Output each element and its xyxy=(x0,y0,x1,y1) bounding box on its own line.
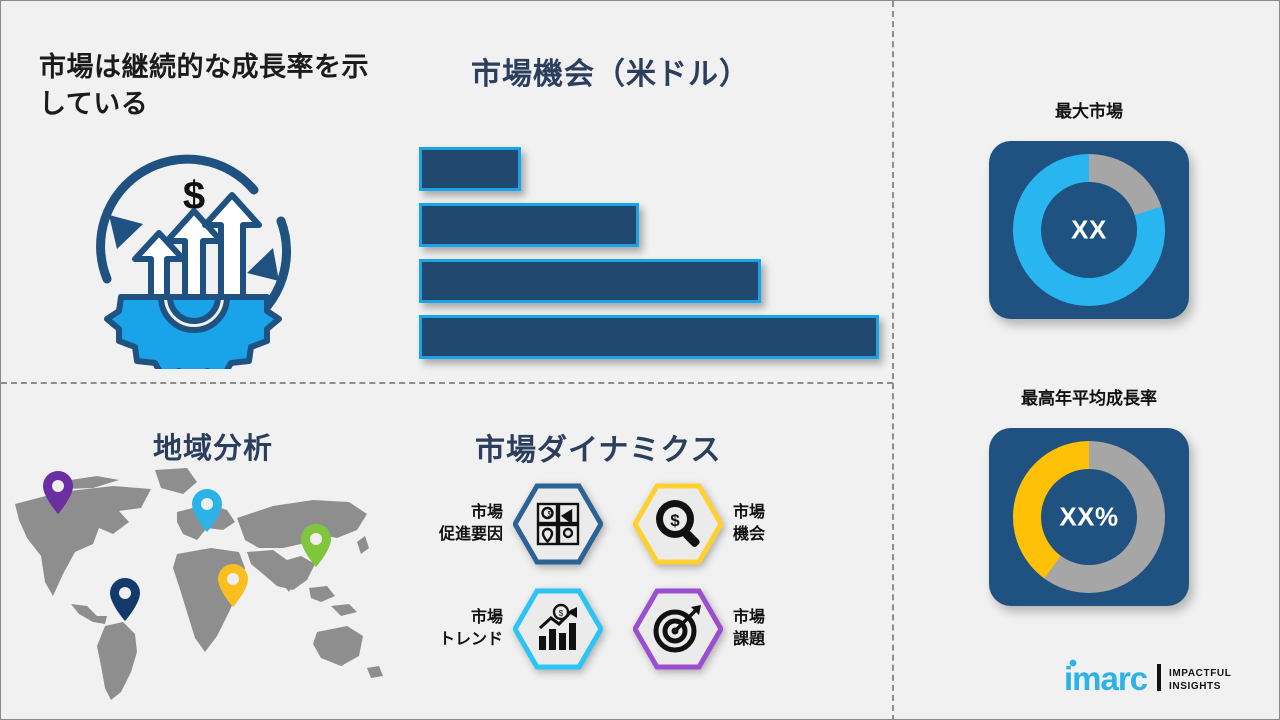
dynamics-item-opportunities[interactable]: $ 市場 機会 xyxy=(633,481,833,566)
puzzle-pieces-icon: $ xyxy=(513,483,603,565)
bar-3 xyxy=(419,259,761,303)
svg-text:$: $ xyxy=(670,511,680,530)
dynamics-item-trends[interactable]: 市場 トレンド $ xyxy=(403,586,603,671)
opportunity-bar-chart xyxy=(419,147,879,347)
horizontal-divider xyxy=(1,382,893,384)
slide-canvas: 市場は継続的な成長率を示している $ 市場機会（米ドル） 地域分析 xyxy=(0,0,1280,720)
dynamics-label-drivers: 市場 促進要因 xyxy=(439,502,503,545)
largest-market-title: 最大市場 xyxy=(959,97,1219,122)
dynamics-item-challenges[interactable]: 市場 課題 xyxy=(633,586,833,671)
highest-cagr-value: XX% xyxy=(989,502,1189,533)
logo-wordmark: imarc xyxy=(1064,660,1148,697)
highest-cagr-title: 最高年平均成長率 xyxy=(959,384,1219,409)
largest-market-value: XX xyxy=(989,215,1189,246)
bar-1 xyxy=(419,147,521,191)
vertical-divider xyxy=(892,1,894,720)
dynamics-heading: 市場ダイナミクス xyxy=(475,425,722,469)
logo-tagline-line2: INSIGHTS xyxy=(1169,681,1221,692)
target-arrow-icon xyxy=(633,588,723,670)
growth-gear-arrows-icon: $ xyxy=(69,129,319,369)
svg-text:$: $ xyxy=(559,609,564,618)
svg-text:$: $ xyxy=(548,510,553,519)
bar-4 xyxy=(419,315,879,359)
dynamics-label-opportunities: 市場 機会 xyxy=(733,502,765,545)
logo-tagline-line1: IMPACTFUL xyxy=(1169,668,1231,679)
bar-chart-growth-icon: $ xyxy=(513,588,603,670)
imarc-logo: imarc IMPACTFUL INSIGHTS xyxy=(1064,656,1264,702)
growth-heading: 市場は継続的な成長率を示している xyxy=(39,49,389,124)
dynamics-item-drivers[interactable]: 市場 促進要因 $ xyxy=(403,481,603,566)
largest-market-card: XX xyxy=(989,141,1189,319)
magnifier-dollar-icon: $ xyxy=(633,483,723,565)
dynamics-label-challenges: 市場 課題 xyxy=(733,607,765,650)
pin-south-america xyxy=(110,578,140,621)
highest-cagr-card: XX% xyxy=(989,428,1189,606)
dynamics-label-trends: 市場 トレンド xyxy=(439,607,503,650)
world-map xyxy=(1,456,401,706)
dynamics-grid: 市場 促進要因 $ xyxy=(403,481,833,681)
bar-2 xyxy=(419,203,639,247)
opportunity-heading: 市場機会（米ドル） xyxy=(471,49,750,93)
logo-divider xyxy=(1157,664,1161,691)
